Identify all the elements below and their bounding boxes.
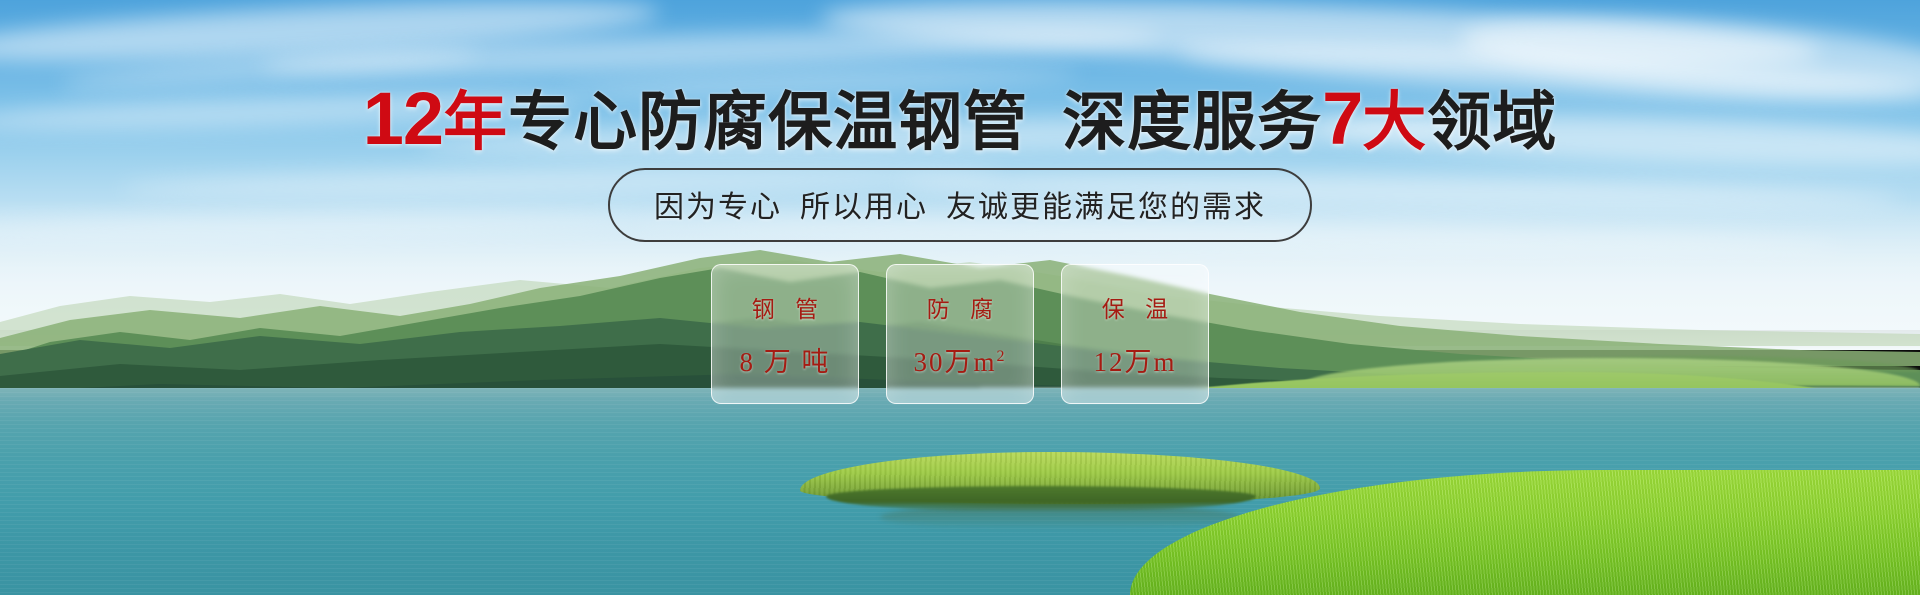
headline-phrase-two: 深度服务 — [1062, 86, 1322, 158]
stat-value-superscript: 2 — [997, 348, 1007, 365]
subtitle-pill: 因为专心所以用心友诚更能满足您的需求 — [608, 168, 1312, 242]
stat-card-steel-pipe[interactable]: 钢 管 8 万 吨 — [711, 264, 859, 404]
cloud-streak — [0, 0, 661, 73]
headline-years-number: 12 — [363, 77, 443, 160]
stat-value: 12万m — [1093, 340, 1176, 379]
headline: 12年专心防腐保温钢管深度服务7大领域 — [0, 82, 1920, 156]
stat-value-text: 8 万 吨 — [740, 347, 831, 377]
stat-label: 防 腐 — [920, 290, 1000, 324]
stat-value: 8 万 吨 — [740, 340, 831, 379]
subtitle-part-two: 所以用心 — [800, 191, 928, 224]
subtitle-part-three: 友诚更能满足您的需求 — [946, 191, 1266, 224]
stat-value: 30万m2 — [913, 340, 1006, 379]
promo-banner: 12年专心防腐保温钢管深度服务7大领域 因为专心所以用心友诚更能满足您的需求 钢… — [0, 0, 1920, 595]
headline-years-unit: 年 — [443, 86, 508, 158]
cloud-streak — [819, 0, 1820, 81]
stat-value-text: 30万m — [913, 347, 996, 377]
stat-card-group: 钢 管 8 万 吨 防 腐 30万m2 保 温 12万m — [711, 264, 1209, 404]
stat-card-insulation[interactable]: 保 温 12万m — [1061, 264, 1209, 404]
headline-fields-number: 7 — [1322, 77, 1362, 160]
cloud-streak — [260, 18, 1161, 83]
headline-phrase-one: 专心防腐保温钢管 — [508, 86, 1028, 158]
subtitle-part-one: 因为专心 — [654, 191, 782, 224]
stat-value-text: 12万m — [1093, 347, 1176, 377]
stat-label: 保 温 — [1095, 290, 1175, 324]
stat-label: 钢 管 — [745, 290, 825, 324]
stat-card-anticorrosion[interactable]: 防 腐 30万m2 — [886, 264, 1034, 404]
headline-fields-word: 领域 — [1427, 86, 1557, 158]
headline-fields-unit: 大 — [1362, 86, 1427, 158]
